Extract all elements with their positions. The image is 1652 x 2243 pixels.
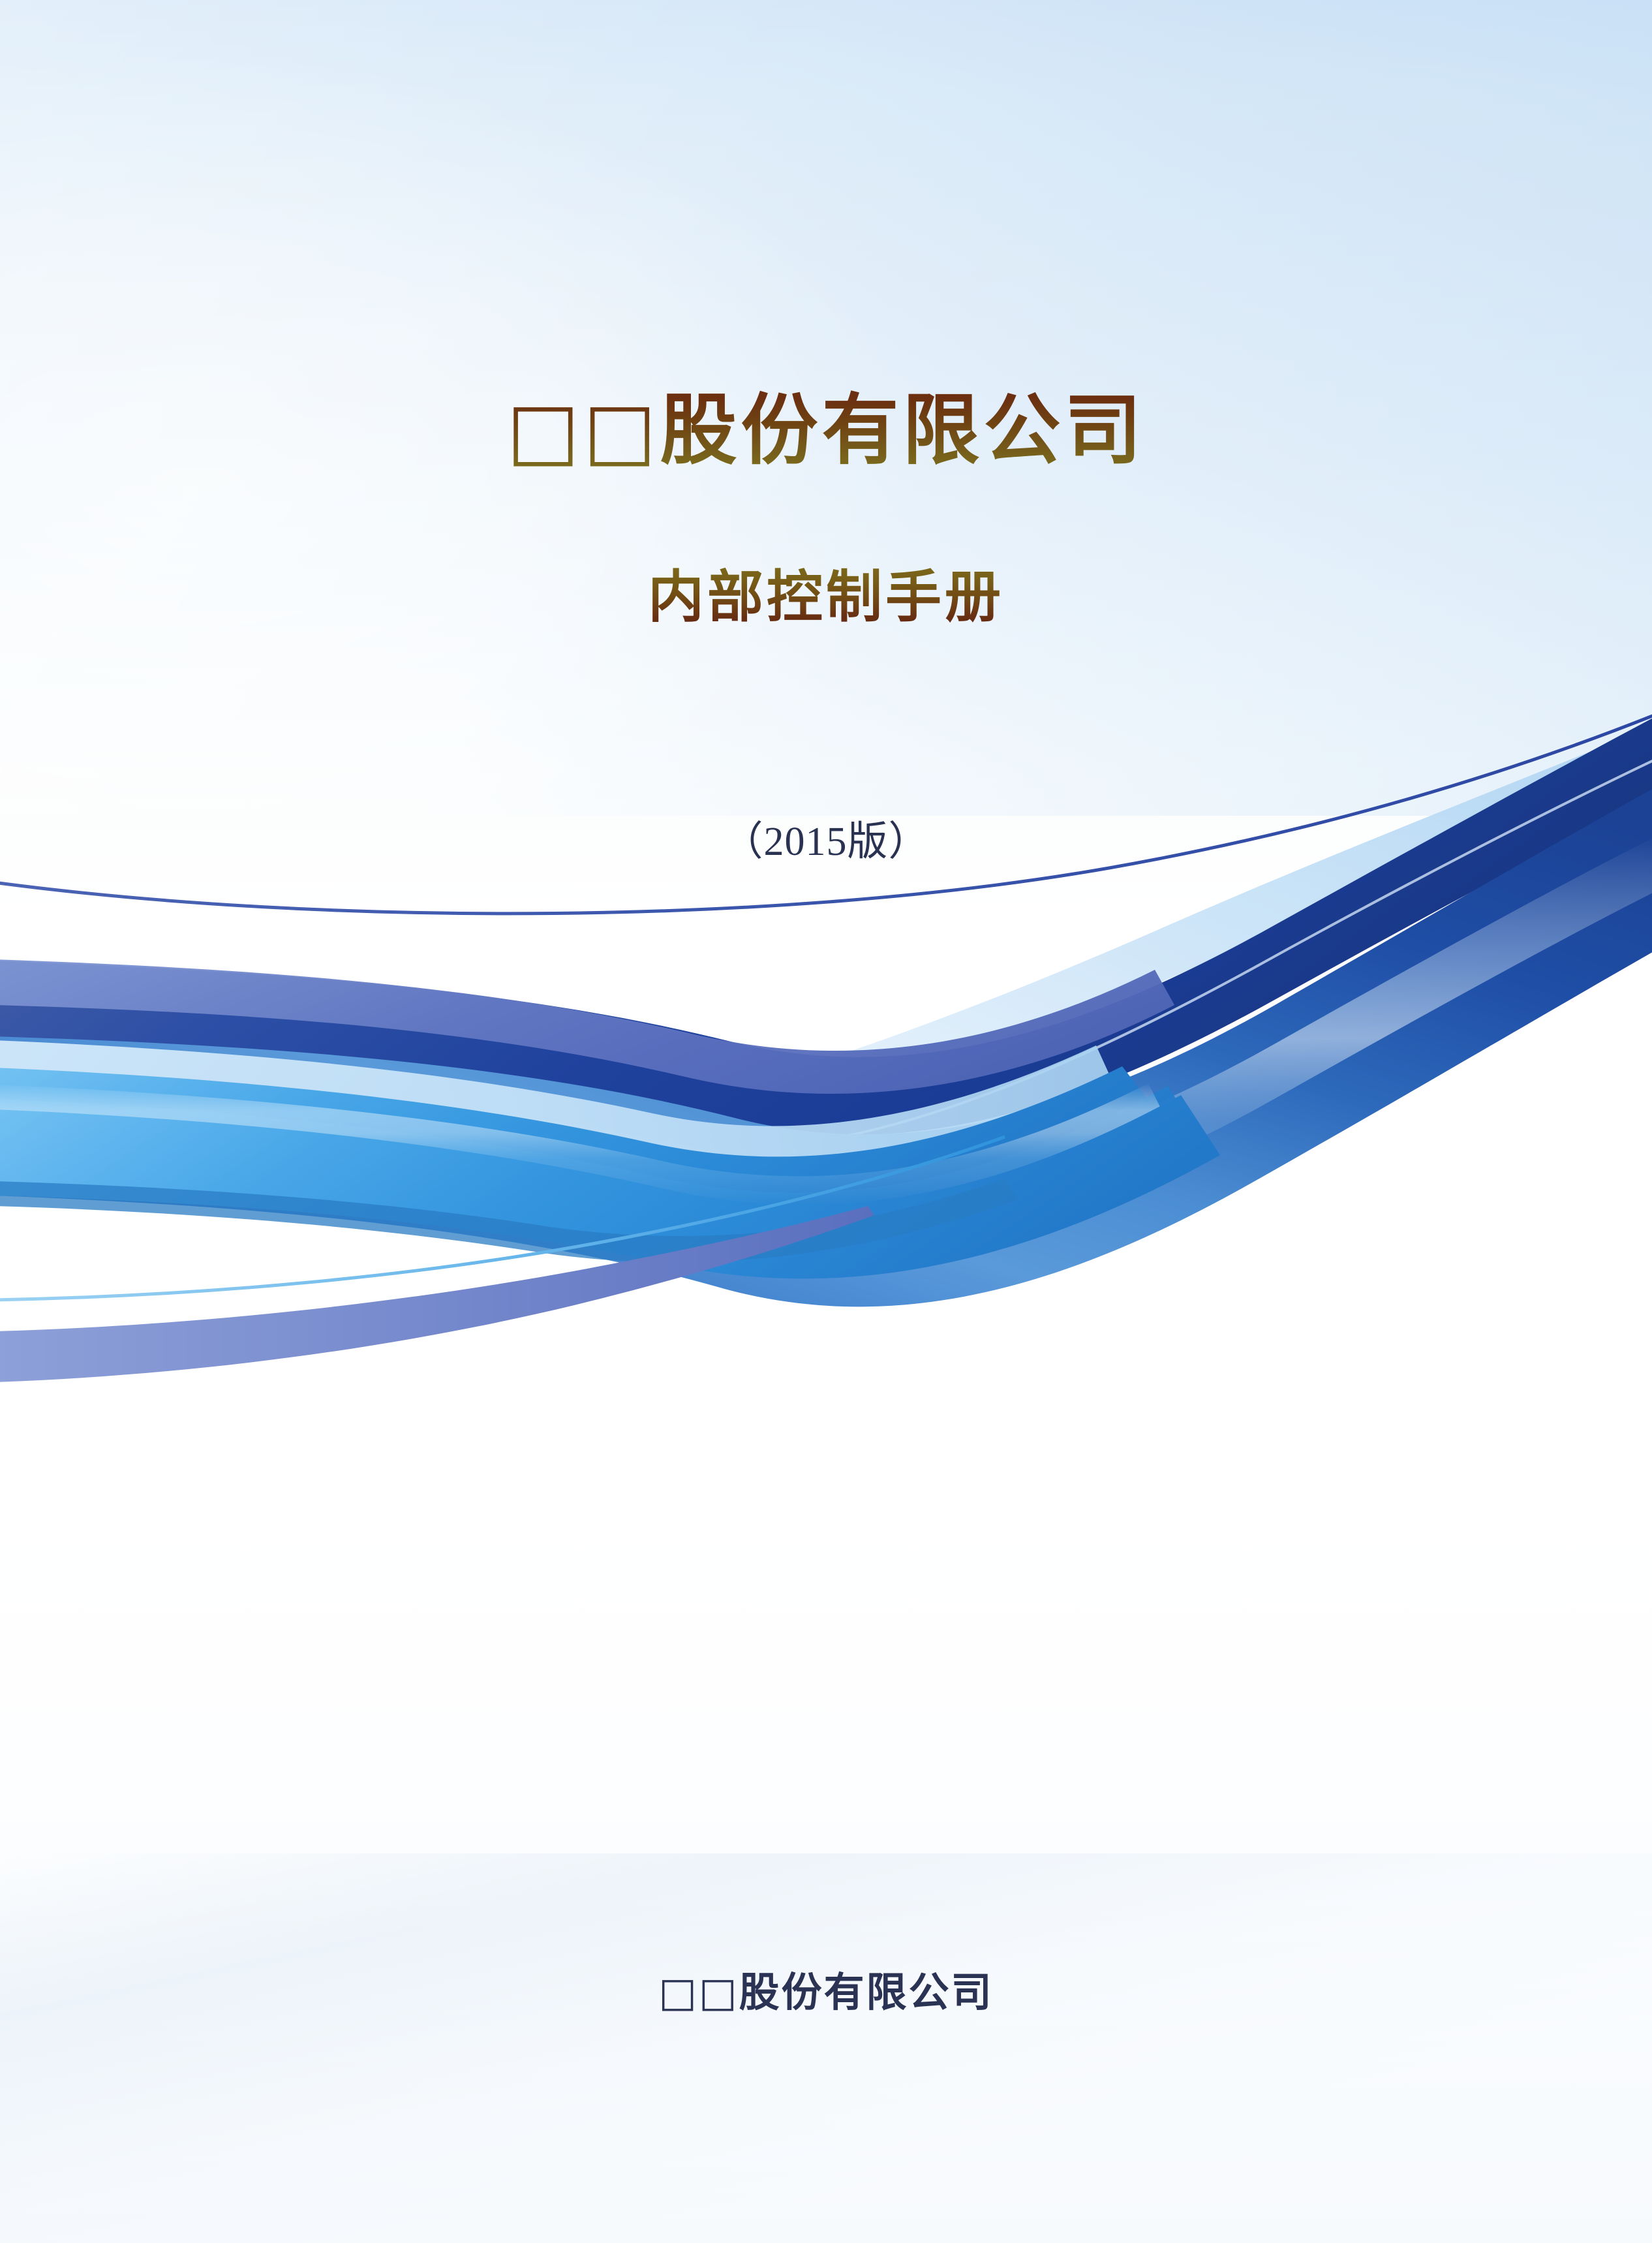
- decorative-wave-graphic: [0, 0, 1652, 2243]
- footer-company-name: □□股份有限公司: [0, 1959, 1652, 2018]
- version-label: （2015版）: [0, 808, 1652, 867]
- document-cover-page: □□股份有限公司 内部控制手册 （2015版） □□股份有限公司: [0, 0, 1652, 2243]
- page-subtitle-manual: 内部控制手册: [0, 563, 1652, 633]
- page-title-company: □□股份有限公司: [0, 384, 1652, 478]
